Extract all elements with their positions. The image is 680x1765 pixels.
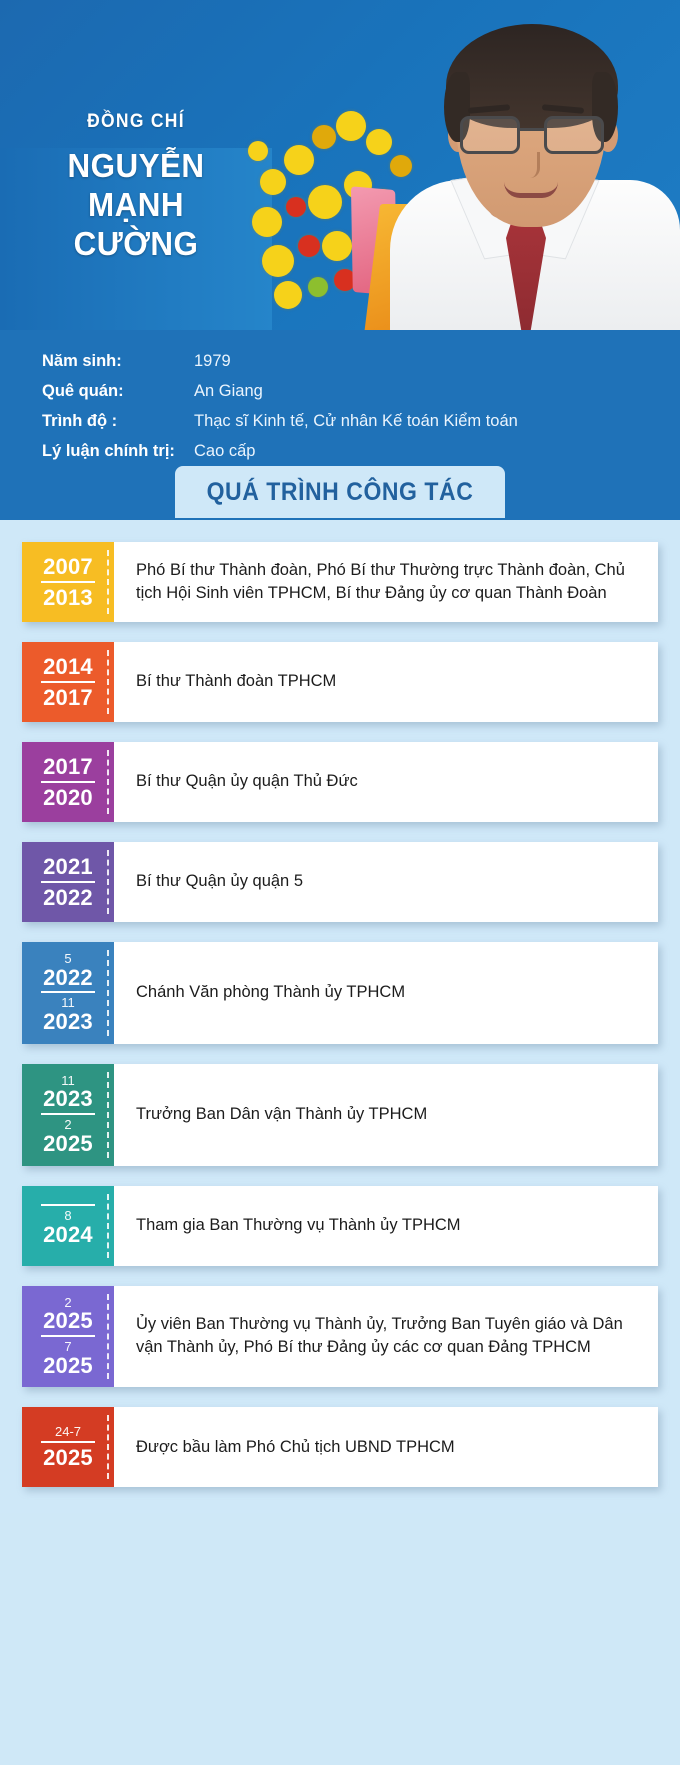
timeline-text: Bí thư Quận ủy quận Thủ Đức: [136, 770, 358, 793]
name-kicker: ĐỒNG CHÍ: [11, 112, 261, 131]
dashed-separator-icon: [107, 550, 109, 614]
timeline-date-chip: 2014 2017: [22, 642, 114, 722]
timeline-text: Trưởng Ban Dân vận Thành ủy TPHCM: [136, 1103, 427, 1126]
chip-bottom-year: 2025: [43, 1132, 93, 1156]
info-value: Thạc sĩ Kinh tế, Cử nhân Kế toán Kiểm to…: [194, 408, 518, 434]
timeline-row: 2014 2017 Bí thư Thành đoàn TPHCM: [22, 642, 658, 722]
chip-bottom-year: 2017: [43, 686, 93, 710]
timeline-text: Ủy viên Ban Thường vụ Thành ủy, Trưởng B…: [136, 1313, 638, 1360]
chip-top-year: 2025: [43, 1309, 93, 1333]
dashed-separator-icon: [107, 750, 109, 814]
chip-bottom-month: 7: [64, 1340, 71, 1354]
timeline-date-chip: 24-7 2025: [22, 1407, 114, 1487]
info-label: Năm sinh:: [42, 348, 194, 374]
chip-divider: [41, 1441, 95, 1443]
chip-top-year: 2017: [43, 755, 93, 779]
chip-top-year: 2007: [43, 555, 93, 579]
chip-bottom-year: 2025: [43, 1446, 93, 1470]
timeline-row: 24-7 2025 Được bầu làm Phó Chủ tịch UBND…: [22, 1407, 658, 1487]
chip-bottom-year: 2023: [43, 1010, 93, 1034]
dashed-separator-icon: [107, 1194, 109, 1258]
timeline-row: 8 2024 Tham gia Ban Thường vụ Thành ủy T…: [22, 1186, 658, 1266]
info-row-hometown: Quê quán: An Giang: [42, 378, 680, 404]
dashed-separator-icon: [107, 1072, 109, 1158]
timeline-text: Bí thư Quận ủy quận 5: [136, 870, 303, 893]
chip-divider: [41, 581, 95, 583]
timeline-date-chip: 2 2025 7 2025: [22, 1286, 114, 1388]
section-title: QUÁ TRÌNH CÔNG TÁC: [207, 478, 474, 507]
career-timeline: 2007 2013 Phó Bí thư Thành đoàn, Phó Bí …: [0, 520, 680, 1513]
chip-top-year: 2014: [43, 655, 93, 679]
timeline-row: 2 2025 7 2025 Ủy viên Ban Thường vụ Thàn…: [22, 1286, 658, 1388]
timeline-date-chip: 11 2023 2 2025: [22, 1064, 114, 1166]
timeline-text: Phó Bí thư Thành đoàn, Phó Bí thư Thường…: [136, 559, 638, 606]
chip-divider: [41, 1204, 95, 1206]
chip-bottom-month: 2: [64, 1118, 71, 1132]
timeline-card: Bí thư Thành đoàn TPHCM: [114, 642, 658, 722]
timeline-card: Trưởng Ban Dân vận Thành ủy TPHCM: [114, 1064, 658, 1166]
chip-bottom-month: 11: [61, 996, 75, 1010]
timeline-card: Ủy viên Ban Thường vụ Thành ủy, Trưởng B…: [114, 1286, 658, 1388]
dashed-separator-icon: [107, 650, 109, 714]
dashed-separator-icon: [107, 1294, 109, 1380]
info-row-political-theory: Lý luận chính trị: Cao cấp: [42, 438, 680, 464]
hero-header: ĐỒNG CHÍ NGUYỄN MẠNH CƯỜNG: [0, 0, 680, 330]
timeline-date-chip: 5 2022 11 2023: [22, 942, 114, 1044]
chip-divider: [41, 781, 95, 783]
info-value: Cao cấp: [194, 438, 255, 464]
section-title-banner: QUÁ TRÌNH CÔNG TÁC: [175, 466, 505, 518]
timeline-text: Tham gia Ban Thường vụ Thành ủy TPHCM: [136, 1214, 461, 1237]
timeline-row: 5 2022 11 2023 Chánh Văn phòng Thành ủy …: [22, 942, 658, 1044]
chip-top-year: 2024: [43, 1223, 93, 1247]
section-banner-zone: QUÁ TRÌNH CÔNG TÁC: [0, 462, 680, 520]
chip-top-month: 11: [61, 1074, 75, 1088]
chip-top-month: 5: [64, 952, 71, 966]
name-line-1: NGUYỄN: [7, 147, 265, 186]
chip-divider: [41, 1335, 95, 1337]
portrait-photo: [240, 0, 680, 330]
timeline-date-chip: 2017 2020: [22, 742, 114, 822]
chip-bottom-year: 2022: [43, 886, 93, 910]
chip-top-year: 2023: [43, 1087, 93, 1111]
chip-divider: [41, 881, 95, 883]
info-label: Lý luận chính trị:: [42, 438, 194, 464]
dashed-separator-icon: [107, 950, 109, 1036]
biography-info-panel: Năm sinh: 1979 Quê quán: An Giang Trình …: [0, 330, 680, 462]
timeline-date-chip: 2021 2022: [22, 842, 114, 922]
timeline-row: 2021 2022 Bí thư Quận ủy quận 5: [22, 842, 658, 922]
timeline-card: Tham gia Ban Thường vụ Thành ủy TPHCM: [114, 1186, 658, 1266]
timeline-date-chip: 8 2024: [22, 1186, 114, 1266]
timeline-card: Bí thư Quận ủy quận 5: [114, 842, 658, 922]
timeline-text: Bí thư Thành đoàn TPHCM: [136, 670, 336, 693]
timeline-card: Phó Bí thư Thành đoàn, Phó Bí thư Thường…: [114, 542, 658, 622]
timeline-text: Chánh Văn phòng Thành ủy TPHCM: [136, 981, 405, 1004]
chip-top-month: 24-7: [55, 1425, 81, 1439]
timeline-card: Chánh Văn phòng Thành ủy TPHCM: [114, 942, 658, 1044]
chip-divider: [41, 1113, 95, 1115]
chip-top-month: 2: [64, 1296, 71, 1310]
name-line-2: MẠNH: [7, 186, 265, 225]
chip-bottom-year: 2013: [43, 586, 93, 610]
timeline-text: Được bầu làm Phó Chủ tịch UBND TPHCM: [136, 1436, 455, 1459]
timeline-date-chip: 2007 2013: [22, 542, 114, 622]
dashed-separator-icon: [107, 850, 109, 914]
timeline-card: Được bầu làm Phó Chủ tịch UBND TPHCM: [114, 1407, 658, 1487]
person-figure: [380, 0, 680, 330]
chip-divider: [41, 681, 95, 683]
name-line-3: CƯỜNG: [7, 225, 265, 264]
info-label: Trình độ :: [42, 408, 194, 434]
info-value: 1979: [194, 348, 231, 374]
info-label: Quê quán:: [42, 378, 194, 404]
chip-top-year: 2021: [43, 855, 93, 879]
infographic-page: ĐỒNG CHÍ NGUYỄN MẠNH CƯỜNG Năm sinh: 197…: [0, 0, 680, 1765]
timeline-row: 11 2023 2 2025 Trưởng Ban Dân vận Thành …: [22, 1064, 658, 1166]
chip-bottom-year: 2020: [43, 786, 93, 810]
info-row-education: Trình độ : Thạc sĩ Kinh tế, Cử nhân Kế t…: [42, 408, 680, 434]
info-value: An Giang: [194, 378, 263, 404]
timeline-row: 2007 2013 Phó Bí thư Thành đoàn, Phó Bí …: [22, 542, 658, 622]
person-name-block: ĐỒNG CHÍ NGUYỄN MẠNH CƯỜNG: [0, 112, 272, 264]
chip-top-month: 8: [64, 1209, 71, 1223]
dashed-separator-icon: [107, 1415, 109, 1479]
info-row-birth-year: Năm sinh: 1979: [42, 348, 680, 374]
timeline-row: 2017 2020 Bí thư Quận ủy quận Thủ Đức: [22, 742, 658, 822]
chip-top-year: 2022: [43, 966, 93, 990]
chip-bottom-year: 2025: [43, 1354, 93, 1378]
chip-divider: [41, 991, 95, 993]
timeline-card: Bí thư Quận ủy quận Thủ Đức: [114, 742, 658, 822]
